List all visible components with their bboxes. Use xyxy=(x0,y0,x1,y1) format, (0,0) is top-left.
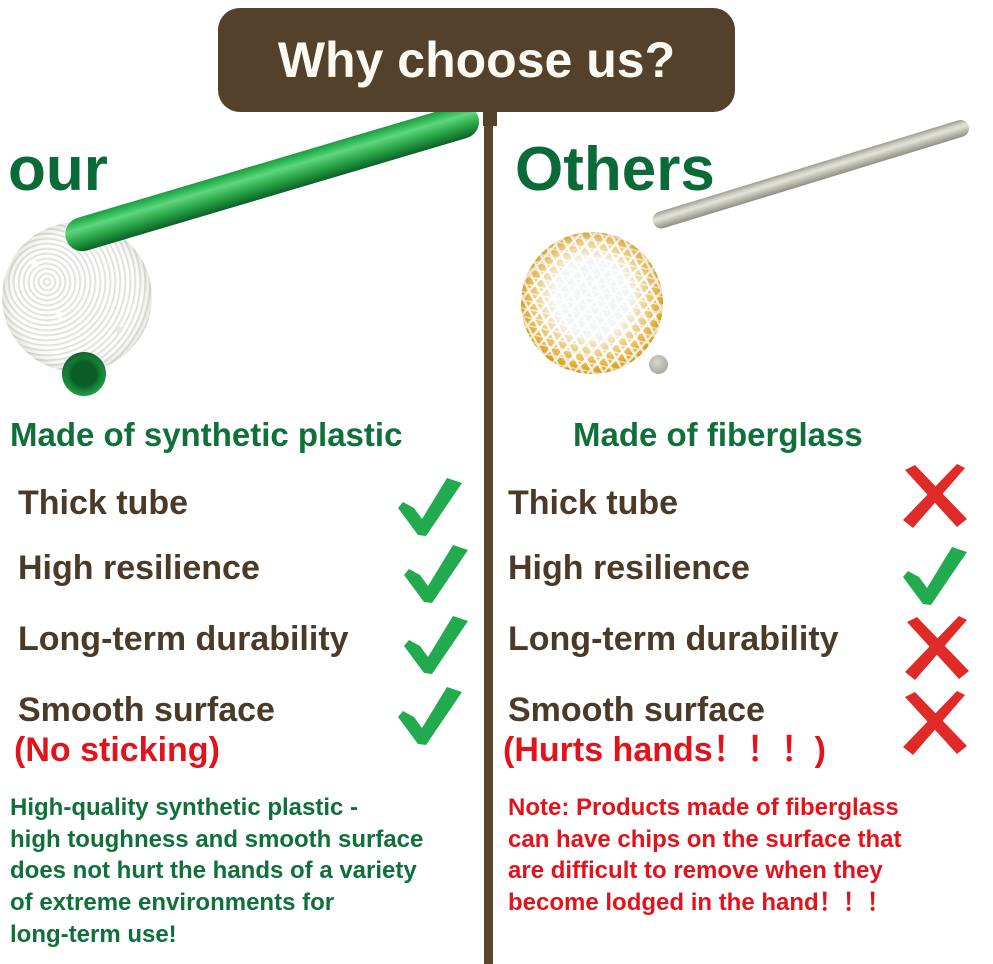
our-material-label: Made of synthetic plastic xyxy=(10,418,402,451)
header-banner: Why choose us? xyxy=(218,8,735,112)
check-icon xyxy=(897,541,973,611)
others-description: Note: Products made of fiberglass can ha… xyxy=(508,792,986,919)
fiberglass-strands-photo xyxy=(521,232,663,374)
fiberglass-rod-end xyxy=(649,355,668,374)
check-icon xyxy=(392,681,468,751)
feature-row: Thick tube xyxy=(0,480,484,545)
feature-row: High resilience xyxy=(493,545,993,610)
feature-label: Long-term durability xyxy=(18,622,349,656)
our-description: High-quality synthetic plastic - high to… xyxy=(10,792,478,950)
cross-icon xyxy=(897,462,973,532)
feature-label: Smooth surface xyxy=(508,693,765,727)
feature-row: Thick tube xyxy=(493,480,993,545)
description-line: does not hurt the hands of a variety xyxy=(10,855,478,887)
column-others: Others Made of fiberglass Thick tube Hig… xyxy=(493,0,993,964)
feature-row: High resilience xyxy=(0,545,484,610)
description-line: Note: Products made of fiberglass xyxy=(508,792,986,824)
feature-label: Smooth surface xyxy=(18,693,275,727)
cross-icon xyxy=(897,689,973,759)
check-icon xyxy=(398,610,474,680)
feature-label: Thick tube xyxy=(18,486,188,520)
description-line: of extreme environments for xyxy=(10,887,478,919)
cross-icon xyxy=(899,614,975,684)
feature-row: Smooth surface (No sticking) xyxy=(0,675,484,765)
others-feature-list: Thick tube High resilience Long-term dur… xyxy=(493,480,993,765)
others-heading: Others xyxy=(515,139,715,201)
description-line: High-quality synthetic plastic - xyxy=(10,792,478,824)
check-icon xyxy=(398,539,474,609)
feature-label: High resilience xyxy=(508,551,750,585)
description-line: high toughness and smooth surface xyxy=(10,824,478,856)
page-title: Why choose us? xyxy=(278,35,675,85)
check-icon xyxy=(392,472,468,542)
feature-label: Long-term durability xyxy=(508,622,839,656)
feature-sublabel: (No sticking) xyxy=(14,733,220,767)
feature-row: Long-term durability xyxy=(0,610,484,675)
column-divider xyxy=(484,110,493,964)
green-tube-photo xyxy=(61,101,483,256)
feature-row: Smooth surface (Hurts hands！！！) xyxy=(493,675,993,765)
feature-sublabel: (Hurts hands！！！) xyxy=(503,733,826,767)
feature-label: High resilience xyxy=(18,551,260,585)
description-line: can have chips on the surface that xyxy=(508,824,986,856)
feature-label: Thick tube xyxy=(508,486,678,520)
feature-row: Long-term durability xyxy=(493,610,993,675)
column-our: our Made of synthetic plastic Thick tube… xyxy=(0,0,484,964)
description-line: become lodged in the hand！！！ xyxy=(508,887,986,919)
others-material-label: Made of fiberglass xyxy=(573,418,863,451)
description-line: are difficult to remove when they xyxy=(508,855,986,887)
our-feature-list: Thick tube High resilience Long-term dur… xyxy=(0,480,484,765)
description-line: long-term use! xyxy=(10,919,478,951)
our-heading: our xyxy=(8,139,108,201)
